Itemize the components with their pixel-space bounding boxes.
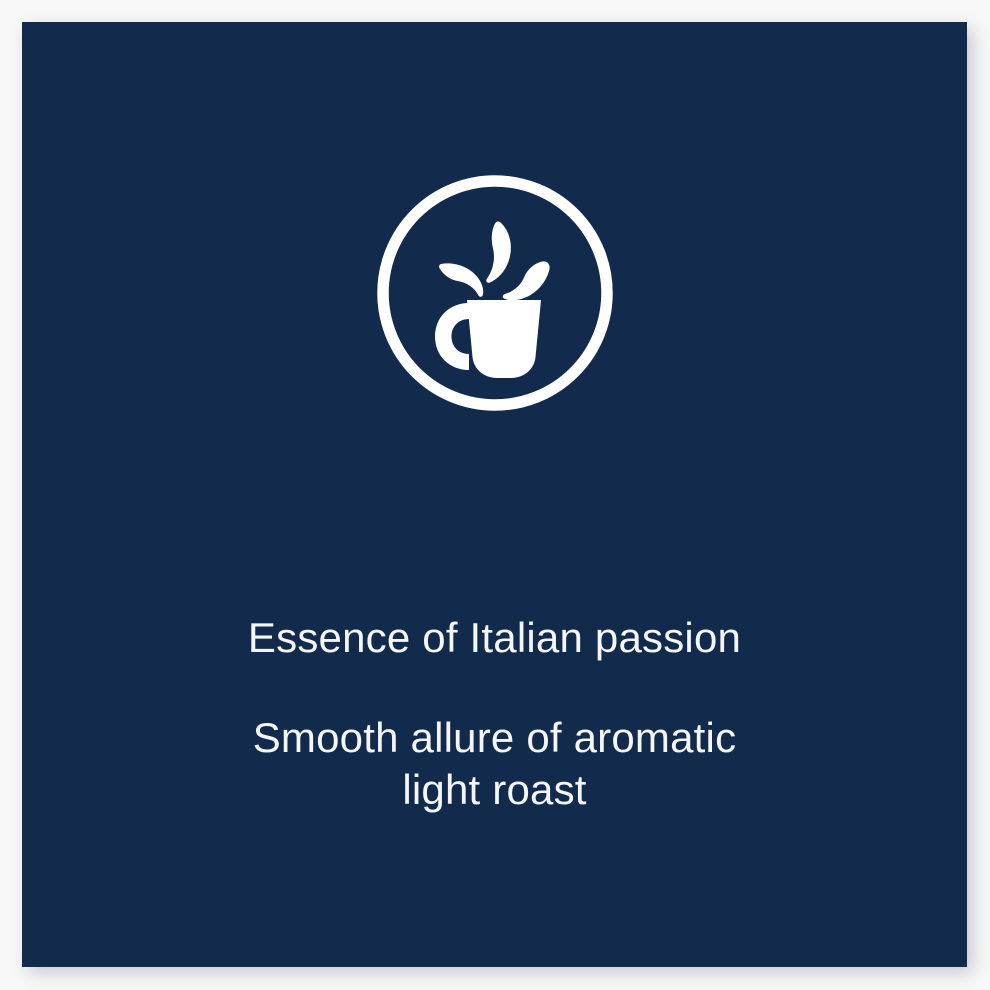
coffee-cup-icon: [377, 175, 613, 411]
promo-card: Essence of Italian passion Smooth allure…: [22, 22, 967, 967]
copy-block: Essence of Italian passion Smooth allure…: [22, 612, 967, 816]
badge-container: [22, 175, 967, 411]
tagline-primary: Essence of Italian passion: [22, 612, 967, 664]
cup-handle-icon: [435, 303, 469, 370]
promo-canvas: Essence of Italian passion Smooth allure…: [0, 0, 990, 990]
steam-leaf-right-icon: [502, 261, 549, 300]
steam-leaf-left-icon: [439, 263, 483, 296]
coffee-cup-icon-body: [467, 300, 541, 378]
tagline-secondary: Smooth allure of aromatic light roast: [22, 712, 967, 816]
steam-leaf-center-icon: [486, 222, 511, 283]
